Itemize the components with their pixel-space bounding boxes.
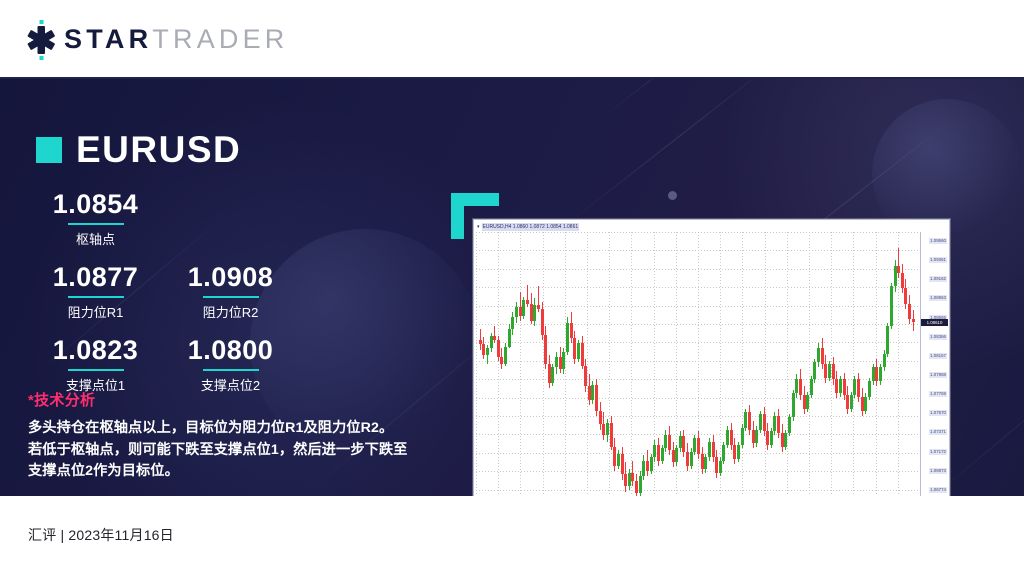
price-tick: 1.09361 [929, 257, 947, 263]
accent-square-icon [36, 137, 62, 163]
candlestick-series [476, 232, 920, 496]
level-underline [68, 223, 124, 225]
main-stage: EURUSD 1.0854 枢轴点 1.0877 阻力位R1 1.0908 [0, 79, 1024, 496]
level-s1: 1.0823 支撑点位1 [28, 335, 163, 394]
brand-name-light: TRADER [152, 24, 288, 54]
level-label: 阻力位R1 [28, 302, 163, 321]
chart-terminal-title: ▾ EURUSD,H4 1.0860 1.0872 1.0854 1.0861 [477, 223, 579, 231]
page-header: STARTRADER [0, 0, 1024, 79]
price-tick: 1.09162 [929, 276, 947, 282]
level-label: 阻力位R2 [163, 302, 298, 321]
chart-title-text: EURUSD,H4 1.0860 1.0872 1.0854 1.0861 [482, 223, 580, 231]
level-s2: 1.0800 支撑点位2 [163, 335, 298, 394]
analysis-line-2: 若低于枢轴点，则可能下跌至支撑点位1，然后进一步下跌至 [28, 440, 418, 462]
brand-logo[interactable]: STARTRADER [24, 20, 289, 60]
level-underline [203, 369, 259, 371]
info-panel: EURUSD 1.0854 枢轴点 1.0877 阻力位R1 1.0908 [0, 79, 440, 496]
currency-pair-heading: EURUSD [36, 131, 241, 168]
level-r1: 1.0877 阻力位R1 [28, 262, 163, 321]
page-footer: 汇评 | 2023年11月16日 [0, 496, 1024, 576]
current-price-tag: 1.08610 [921, 319, 948, 326]
price-tick: 1.07769 [929, 391, 947, 397]
chart-plot-area[interactable] [476, 232, 920, 496]
level-r2: 1.0908 阻力位R2 [163, 262, 298, 321]
price-tick: 1.07968 [929, 372, 947, 378]
analysis-line-3: 支撑点位2作为目标位。 [28, 461, 418, 483]
levels-group: 1.0854 枢轴点 1.0877 阻力位R1 1.0908 阻力位R2 [0, 189, 440, 408]
price-tick: 1.07570 [929, 410, 947, 416]
collapse-triangle-icon: ▾ [477, 224, 480, 230]
asterisk-star-icon [24, 20, 58, 60]
price-tick: 1.08963 [929, 295, 947, 301]
chart-canvas[interactable]: ▾ EURUSD,H4 1.0860 1.0872 1.0854 1.0861 … [475, 221, 948, 496]
price-tick: 1.07172 [929, 449, 947, 455]
analysis-title: *技术分析 [28, 389, 418, 410]
price-tick: 1.09560 [929, 238, 947, 244]
analysis-line-1: 多头持仓在枢轴点以上，目标位为阻力位R1及阻力位R2。 [28, 418, 418, 440]
analysis-block: *技术分析 多头持仓在枢轴点以上，目标位为阻力位R1及阻力位R2。 若低于枢轴点… [28, 389, 418, 483]
decorative-dot [668, 191, 677, 200]
brand-name-bold: STAR [64, 24, 152, 54]
level-value: 1.0854 [28, 189, 163, 220]
level-underline [68, 369, 124, 371]
level-pivot: 1.0854 枢轴点 [28, 189, 163, 248]
price-tick: 1.06774 [929, 487, 947, 493]
price-tick: 1.08366 [929, 334, 947, 340]
price-axis[interactable]: 1.095601.093611.091621.089631.085651.083… [920, 232, 948, 496]
level-value: 1.0823 [28, 335, 163, 366]
price-tick: 1.06973 [929, 468, 947, 474]
price-tick: 1.07371 [929, 429, 947, 435]
chart-window[interactable]: ▾ EURUSD,H4 1.0860 1.0872 1.0854 1.0861 … [473, 219, 950, 496]
price-tick: 1.08167 [929, 353, 947, 359]
footer-caption: 汇评 | 2023年11月16日 [28, 525, 174, 545]
level-label: 枢轴点 [28, 229, 163, 248]
level-underline [68, 296, 124, 298]
page-title: EURUSD [76, 131, 241, 168]
level-underline [203, 296, 259, 298]
level-value: 1.0800 [163, 335, 298, 366]
level-value: 1.0908 [163, 262, 298, 293]
level-value: 1.0877 [28, 262, 163, 293]
